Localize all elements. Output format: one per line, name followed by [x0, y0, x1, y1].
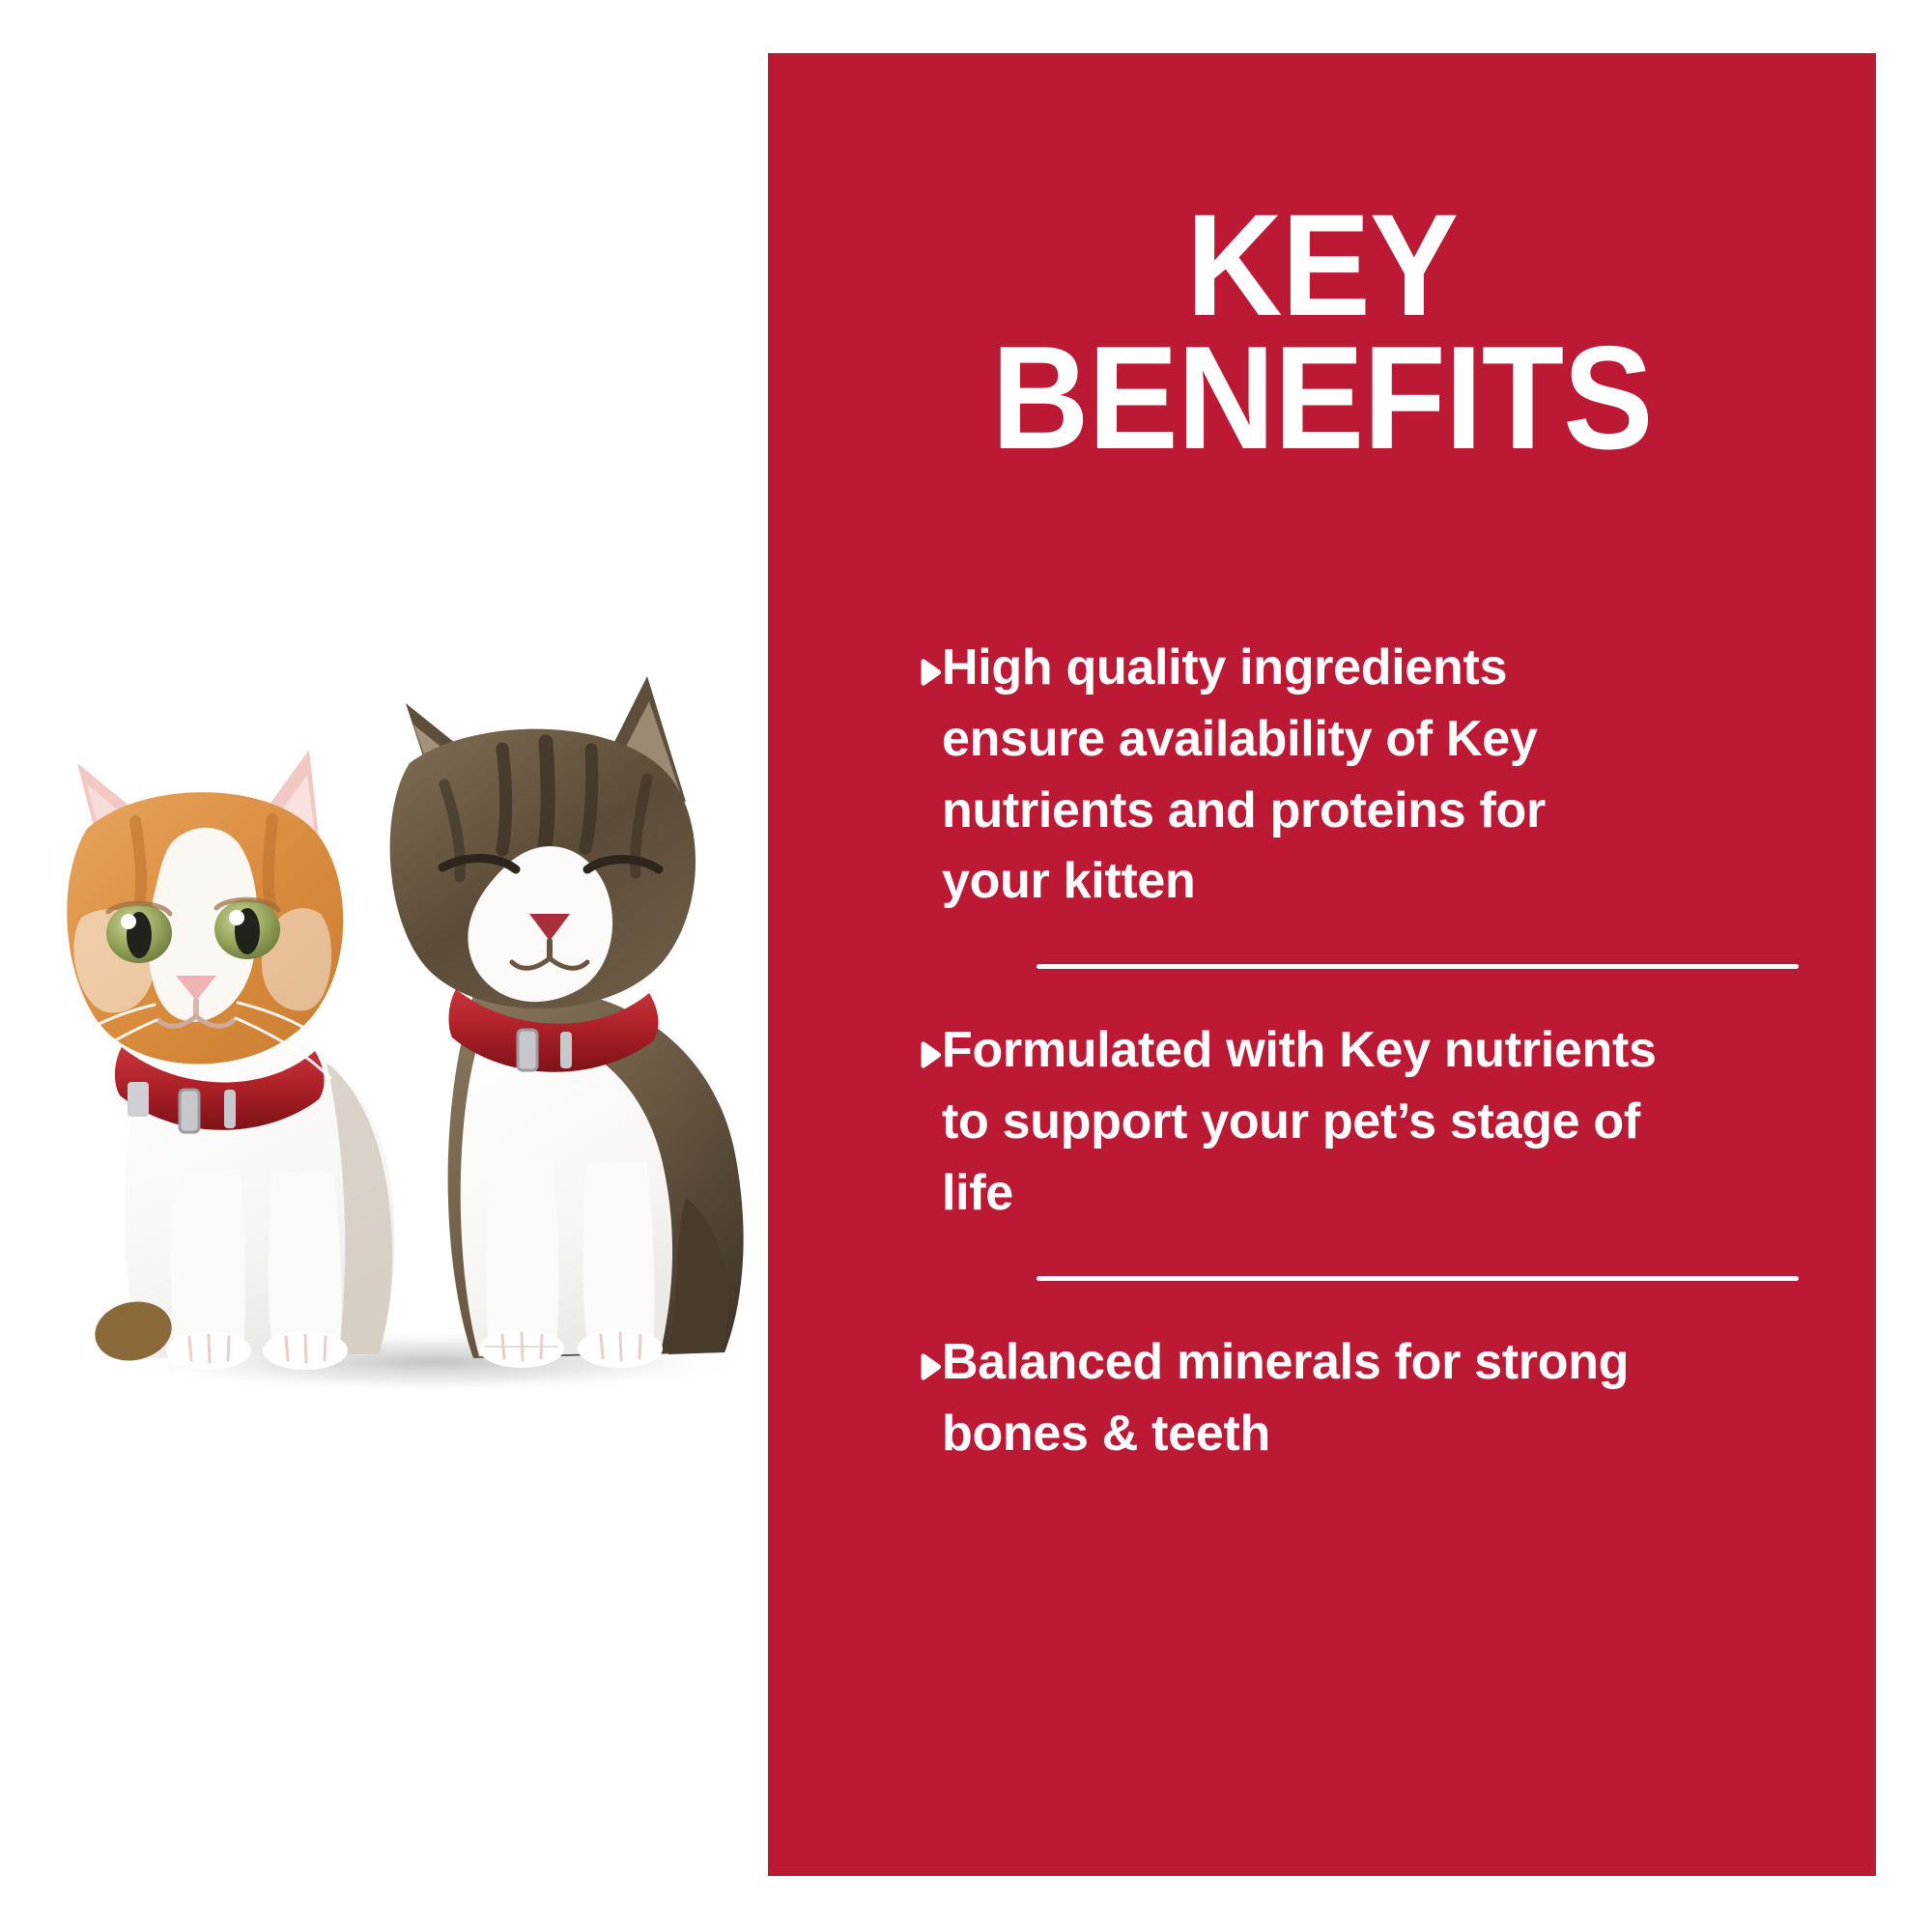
title-line-1: KEY: [812, 198, 1832, 331]
benefit-item-1: High quality ingredients ensure availabi…: [768, 633, 1876, 918]
ginger-left-eye: [106, 903, 172, 963]
benefit-divider-2: [1037, 1276, 1799, 1281]
bullet-column: [768, 1015, 942, 1085]
triangle-right-icon: [918, 1337, 942, 1397]
two-kittens-image: [19, 580, 831, 1410]
tabby-kitten: [390, 676, 744, 1368]
ginger-right-eye: [214, 899, 280, 959]
triangle-right-icon: [918, 1025, 942, 1085]
benefit-text-3: Balanced minerals for strong bones & tee…: [942, 1327, 1666, 1470]
benefit-item-2: Formulated with Key nutrients to support…: [768, 1015, 1876, 1229]
bullet-column: [768, 1327, 942, 1397]
page-title: KEY BENEFITS: [812, 198, 1832, 467]
benefit-text-2: Formulated with Key nutrients to support…: [942, 1015, 1666, 1229]
benefit-item-3: Balanced minerals for strong bones & tee…: [768, 1327, 1876, 1470]
benefits-list: High quality ingredients ensure availabi…: [768, 633, 1876, 1469]
triangle-right-icon: [918, 642, 942, 702]
benefit-text-1: High quality ingredients ensure availabi…: [942, 633, 1666, 918]
ginger-kitten: [52, 750, 394, 1370]
title-line-2: BENEFITS: [812, 331, 1832, 467]
poster-canvas: KEY BENEFITS High quality ingredients en…: [0, 0, 1932, 1932]
bullet-column: [768, 633, 942, 702]
benefit-divider-1: [1037, 964, 1799, 969]
